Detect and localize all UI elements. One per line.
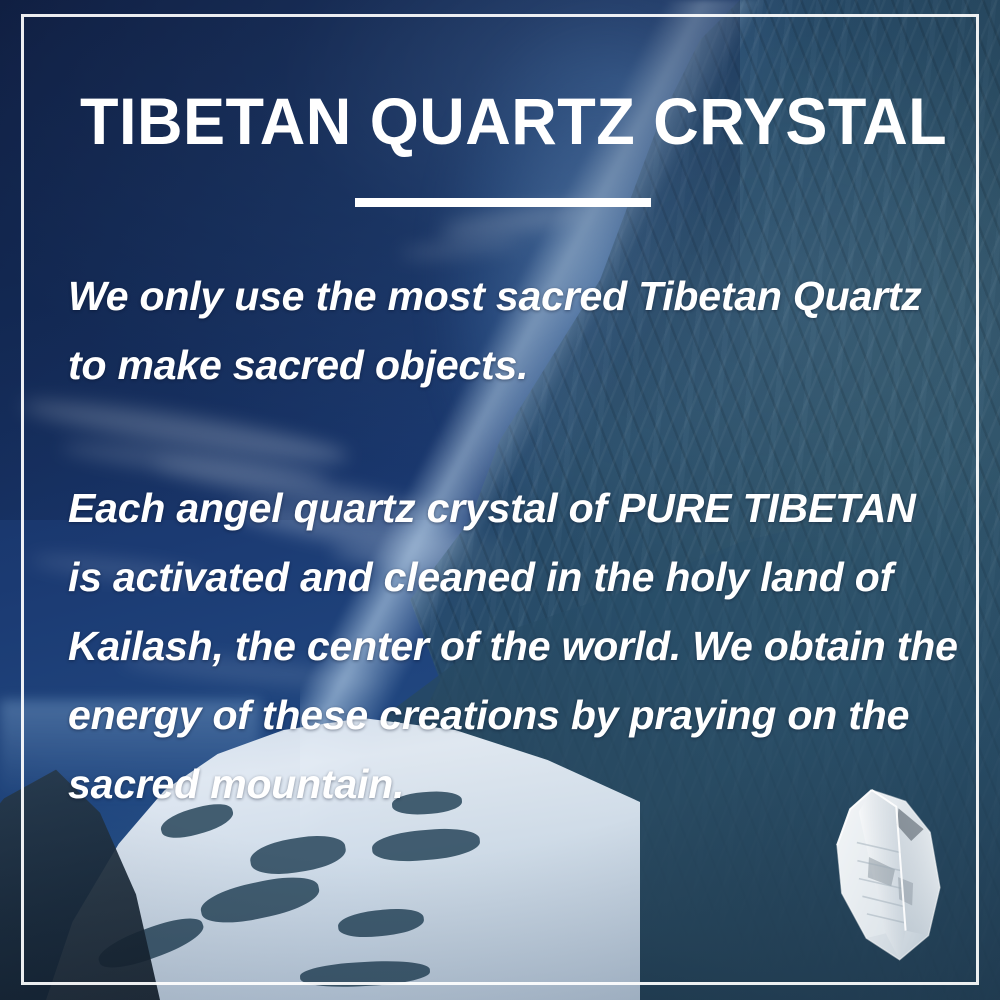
paragraph-1: We only use the most sacred Tibetan Quar… <box>68 262 958 400</box>
promo-banner: TIBETAN QUARTZ CRYSTAL We only use the m… <box>0 0 1000 1000</box>
content-layer: TIBETAN QUARTZ CRYSTAL We only use the m… <box>0 0 1000 1000</box>
page-title: TIBETAN QUARTZ CRYSTAL <box>80 88 901 154</box>
paragraph-2: Each angel quartz crystal of PURE TIBETA… <box>68 474 958 819</box>
title-divider <box>355 198 651 207</box>
body-copy: We only use the most sacred Tibetan Quar… <box>68 262 958 819</box>
